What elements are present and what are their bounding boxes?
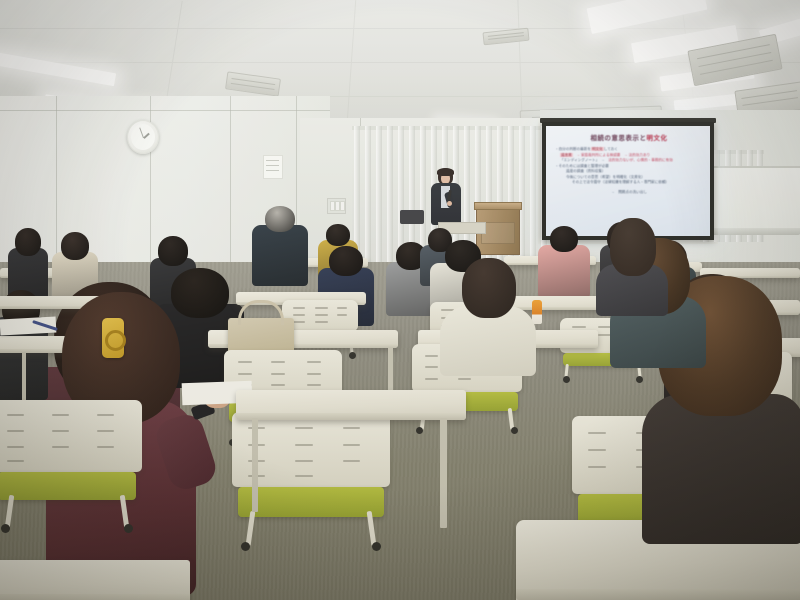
- attendee-head: [61, 232, 89, 260]
- presenter-hand: [447, 201, 452, 206]
- attendee-head: [610, 218, 656, 276]
- classroom-desk: [236, 390, 466, 420]
- wall-clock: [127, 120, 159, 154]
- attendee-head: [462, 258, 516, 318]
- av-equipment: [400, 210, 424, 224]
- presenter-speaker: [428, 168, 464, 224]
- attendee-pink-shirt: [538, 226, 590, 298]
- light-switch-panel[interactable]: [327, 198, 346, 214]
- slide-title: 相続の意思表示と明文化: [555, 133, 703, 142]
- wall-notice: [263, 155, 283, 179]
- hair-clip-ring: [105, 330, 126, 351]
- desk-leg: [252, 418, 258, 512]
- desk-leg: [440, 418, 447, 528]
- attendee-head: [550, 226, 578, 252]
- attendee-black-jacket-mid: [440, 258, 536, 368]
- attendee-grey-hair-pattern-shirt: [252, 206, 308, 286]
- attendee-head: [15, 228, 41, 256]
- attendee-head: [326, 224, 350, 246]
- classroom-chair[interactable]: [0, 400, 142, 528]
- attendee-torso: [642, 394, 800, 544]
- lecture-hall-photo: 相続の意思表示と明文化 ・自分の判断の最新を明文化しておく 遺言書 → 家庭裁判…: [0, 0, 800, 600]
- attendee-torso: [538, 245, 590, 298]
- attendee-head: [265, 206, 295, 232]
- classroom-desk: [0, 560, 190, 600]
- attendee-head: [158, 236, 188, 266]
- attendee-head: [329, 246, 363, 276]
- attendee-right-dark-long-hair: [596, 218, 668, 308]
- attendee-torso: [252, 225, 308, 286]
- slide-bullet: → 問題点の洗い出し: [555, 190, 703, 196]
- desk-leg: [22, 352, 26, 404]
- presenter-hair: [437, 168, 454, 176]
- slide-bullet: その上で法令遵守（法律知識を理解する人・専門家に依頼）: [555, 180, 703, 186]
